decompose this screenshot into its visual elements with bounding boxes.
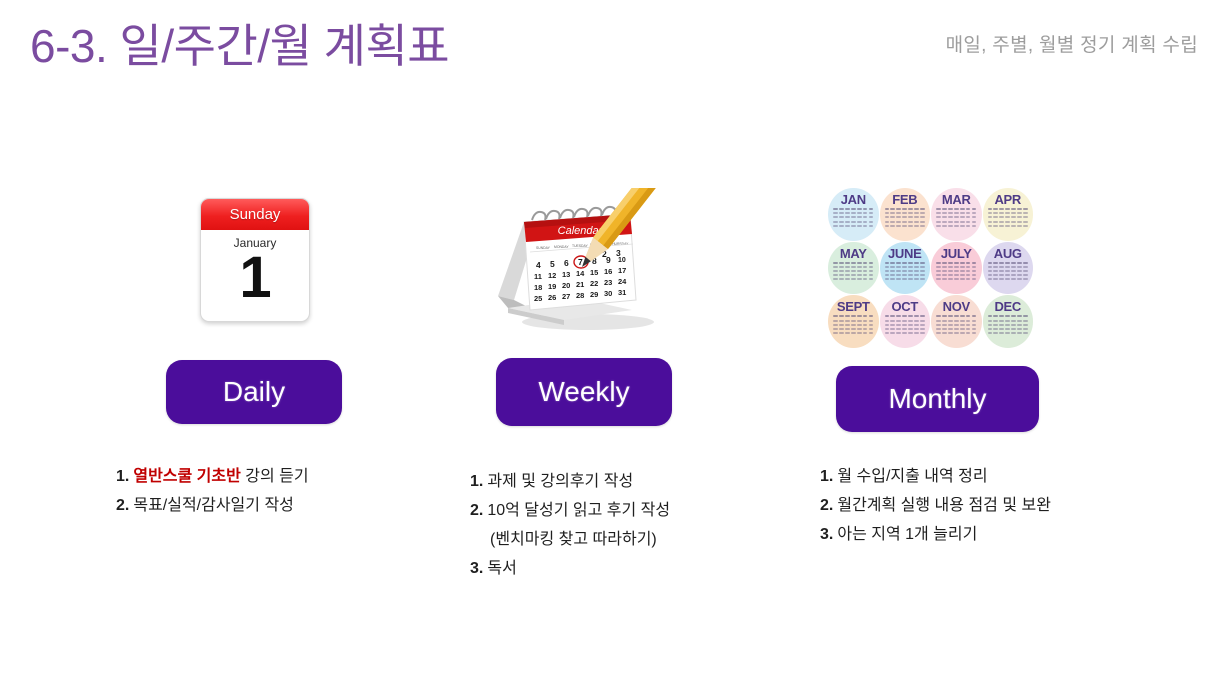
desk-calendar-icon: Calendar SUNDAY MONDAY TUESDAY WEDNESD	[480, 188, 680, 338]
task-number: 3.	[470, 560, 483, 577]
month-mini-grid	[885, 262, 925, 282]
month-mini-grid	[936, 262, 976, 282]
svg-text:27: 27	[562, 292, 570, 301]
svg-text:6: 6	[564, 258, 569, 268]
svg-text:28: 28	[576, 291, 584, 300]
calendar-weekday-label: Sunday	[201, 199, 309, 230]
task-text: 월간계획 실행 내용 점검 및 보완	[837, 497, 1051, 514]
svg-text:9: 9	[606, 255, 611, 265]
svg-text:19: 19	[548, 282, 556, 291]
svg-text:13: 13	[562, 270, 570, 279]
month-label: JULY	[941, 247, 972, 260]
svg-text:18: 18	[534, 283, 542, 292]
task-number: 2.	[470, 502, 483, 519]
daily-task-list: 1.열반스쿨 기초반 강의 듣기2.목표/실적/감사일기 작성	[116, 462, 309, 520]
task-item: 3.아는 지역 1개 늘리기	[820, 520, 1051, 549]
monthly-button[interactable]: Monthly	[836, 366, 1039, 432]
month-circle-july: JULY	[931, 242, 982, 295]
task-subtext: (벤치마킹 찾고 따라하기)	[470, 525, 670, 554]
month-circle-nov: NOV	[931, 295, 982, 348]
svg-text:SUNDAY: SUNDAY	[536, 246, 551, 250]
task-item: 1.월 수입/지출 내역 정리	[820, 462, 1051, 491]
calendar-day-number: 1	[201, 248, 309, 308]
task-item: 2.10억 달성기 읽고 후기 작성	[470, 496, 670, 525]
twelve-month-circles-icon: JANFEBMARAPRMAYJUNEJULYAUGSEPTOCTNOVDEC	[828, 188, 1033, 348]
svg-text:24: 24	[618, 277, 627, 286]
task-item: 2.목표/실적/감사일기 작성	[116, 491, 309, 520]
weekly-button[interactable]: Weekly	[496, 358, 672, 426]
month-mini-grid	[833, 208, 873, 228]
page-title: 6-3. 일/주간/월 계획표	[30, 10, 449, 76]
month-circle-apr: APR	[983, 188, 1034, 241]
svg-text:16: 16	[604, 267, 612, 276]
column-daily: Sunday January 1	[110, 180, 430, 345]
month-circle-june: JUNE	[880, 242, 931, 295]
task-text: 아는 지역 1개 늘리기	[837, 526, 977, 543]
month-circle-jan: JAN	[828, 188, 879, 241]
month-mini-grid	[988, 208, 1028, 228]
task-item: 1.열반스쿨 기초반 강의 듣기	[116, 462, 309, 491]
task-item: 2.월간계획 실행 내용 점검 및 보완	[820, 491, 1051, 520]
svg-text:21: 21	[576, 280, 584, 289]
month-circle-aug: AUG	[983, 242, 1034, 295]
month-circle-may: MAY	[828, 242, 879, 295]
svg-text:26: 26	[548, 293, 556, 302]
svg-text:15: 15	[590, 268, 598, 277]
monthly-task-list: 1.월 수입/지출 내역 정리2.월간계획 실행 내용 점검 및 보완3.아는 …	[820, 462, 1051, 549]
month-label: JUNE	[888, 247, 921, 260]
month-circle-feb: FEB	[880, 188, 931, 241]
task-text: 독서	[487, 560, 516, 577]
svg-text:17: 17	[618, 266, 626, 275]
month-mini-grid	[833, 315, 873, 335]
month-label: MAR	[942, 193, 971, 206]
svg-text:20: 20	[562, 281, 570, 290]
task-number: 1.	[820, 468, 833, 485]
month-label: JAN	[841, 193, 866, 206]
svg-text:11: 11	[534, 272, 542, 281]
month-mini-grid	[936, 208, 976, 228]
task-text: 월 수입/지출 내역 정리	[837, 468, 987, 485]
column-monthly: JANFEBMARAPRMAYJUNEJULYAUGSEPTOCTNOVDEC	[810, 180, 1150, 345]
task-number: 2.	[116, 497, 129, 514]
month-label: SEPT	[837, 300, 870, 313]
month-label: FEB	[892, 193, 917, 206]
svg-text:22: 22	[590, 279, 598, 288]
svg-text:12: 12	[548, 271, 556, 280]
month-label: APR	[994, 193, 1021, 206]
svg-text:5: 5	[550, 259, 555, 269]
daily-artwork-wrap: Sunday January 1	[110, 180, 430, 345]
svg-text:30: 30	[604, 289, 612, 298]
task-text: 강의 듣기	[241, 468, 309, 485]
svg-text:25: 25	[534, 294, 542, 303]
month-label: AUG	[994, 247, 1022, 260]
svg-text:7: 7	[578, 257, 583, 267]
task-number: 1.	[116, 468, 129, 485]
task-text: 10억 달성기 읽고 후기 작성	[487, 502, 670, 519]
task-number: 3.	[820, 526, 833, 543]
svg-text:23: 23	[604, 278, 612, 287]
task-item: 1.과제 및 강의후기 작성	[470, 467, 670, 496]
svg-text:10: 10	[618, 257, 626, 264]
month-mini-grid	[936, 315, 976, 335]
svg-text:31: 31	[618, 288, 626, 297]
monthly-artwork-wrap: JANFEBMARAPRMAYJUNEJULYAUGSEPTOCTNOVDEC	[810, 180, 1150, 345]
svg-text:MONDAY: MONDAY	[554, 245, 569, 249]
month-mini-grid	[833, 262, 873, 282]
svg-text:29: 29	[590, 290, 598, 299]
task-number: 1.	[470, 473, 483, 490]
svg-text:14: 14	[576, 269, 585, 278]
wall-calendar-icon: Sunday January 1	[200, 198, 310, 322]
month-label: DEC	[994, 300, 1021, 313]
desk-calendar-svg: Calendar SUNDAY MONDAY TUESDAY WEDNESD	[480, 188, 680, 338]
month-mini-grid	[988, 315, 1028, 335]
svg-text:4: 4	[536, 260, 541, 270]
month-label: OCT	[891, 300, 918, 313]
page-subtitle: 매일, 주별, 월별 정기 계획 수립	[946, 30, 1198, 57]
weekly-artwork-wrap: Calendar SUNDAY MONDAY TUESDAY WEDNESD	[460, 180, 780, 345]
month-mini-grid	[988, 262, 1028, 282]
month-mini-grid	[885, 315, 925, 335]
month-circle-oct: OCT	[880, 295, 931, 348]
column-weekly: Calendar SUNDAY MONDAY TUESDAY WEDNESD	[460, 180, 780, 345]
task-item: 3.독서	[470, 554, 670, 583]
month-mini-grid	[885, 208, 925, 228]
task-number: 2.	[820, 497, 833, 514]
weekly-task-list: 1.과제 및 강의후기 작성2.10억 달성기 읽고 후기 작성(벤치마킹 찾고…	[470, 467, 670, 583]
month-circle-sept: SEPT	[828, 295, 879, 348]
month-circle-mar: MAR	[931, 188, 982, 241]
task-highlight-text: 열반스쿨 기초반	[133, 468, 241, 485]
month-circle-dec: DEC	[983, 295, 1034, 348]
task-text: 과제 및 강의후기 작성	[487, 473, 633, 490]
month-label: NOV	[943, 300, 970, 313]
task-text: 목표/실적/감사일기 작성	[133, 497, 294, 514]
daily-button[interactable]: Daily	[166, 360, 342, 424]
month-label: MAY	[840, 247, 867, 260]
